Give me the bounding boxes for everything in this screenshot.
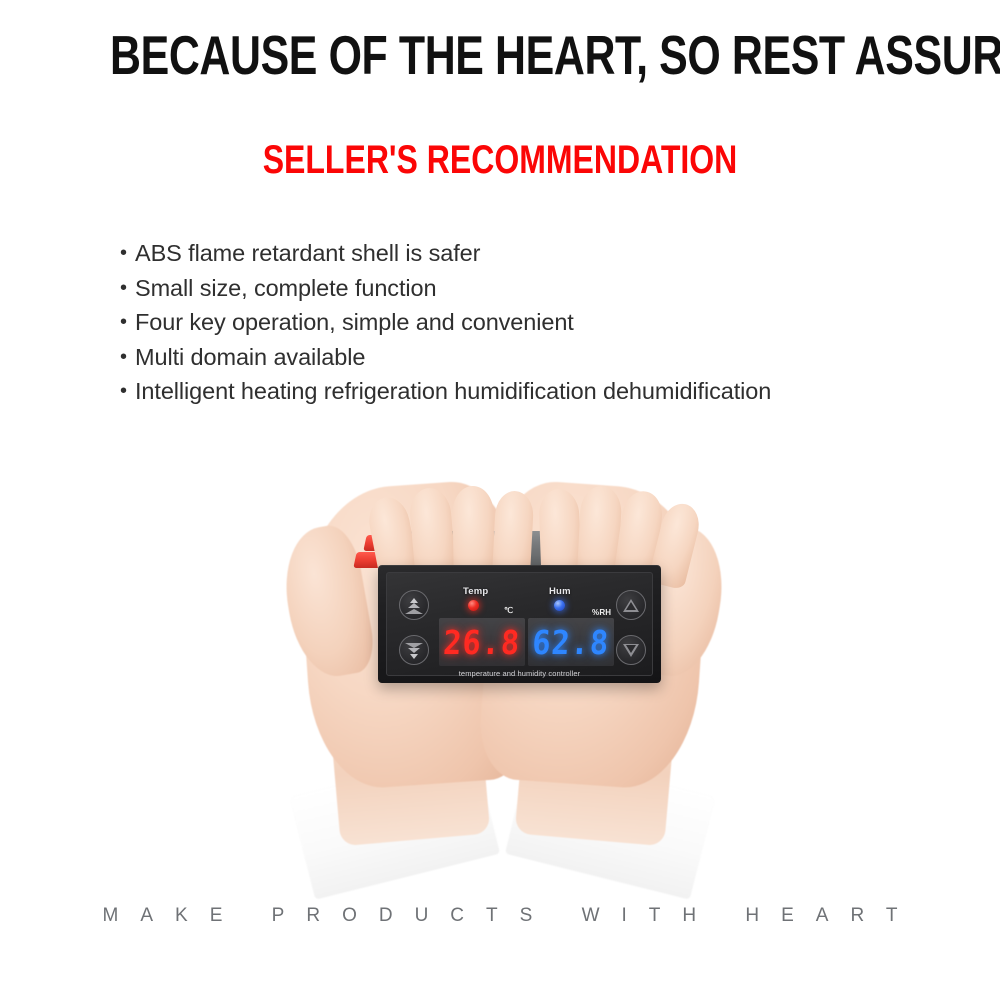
- temp-unit-label: ℃: [504, 606, 513, 615]
- triangle-down-icon: [623, 644, 639, 657]
- device-caption: temperature and humidity controller: [387, 669, 652, 678]
- list-item: • ABS flame retardant shell is safer: [120, 236, 960, 271]
- list-item: • Intelligent heating refrigeration humi…: [120, 374, 960, 409]
- triangle-stack-up-icon: [405, 598, 423, 613]
- temp-label: Temp: [463, 586, 488, 597]
- temp-indicator-led: [468, 600, 479, 611]
- hum-indicator-led: [554, 600, 565, 611]
- device-bezel: Temp Hum ℃ %RH 26.8 62.8 temperature and…: [378, 565, 661, 683]
- hum-label: Hum: [549, 586, 571, 597]
- feature-text: ABS flame retardant shell is safer: [135, 236, 960, 271]
- triangle-stack-down-icon: [405, 643, 423, 658]
- footer-tagline: MAKE PRODUCTS WITH HEART: [0, 905, 1000, 927]
- set-up-button[interactable]: [399, 590, 429, 620]
- hum-value: 62.8: [532, 626, 611, 659]
- bullet-icon: •: [120, 305, 135, 340]
- page-subheadline: SELLER'S RECOMMENDATION: [100, 137, 900, 183]
- hum-unit-label: %RH: [592, 608, 611, 617]
- feature-text: Small size, complete function: [135, 271, 960, 306]
- hum-display: 62.8: [528, 618, 614, 666]
- feature-list: • ABS flame retardant shell is safer • S…: [120, 236, 960, 409]
- page-headline: BECAUSE OF THE HEART, SO REST ASSURED: [110, 24, 890, 86]
- bullet-icon: •: [120, 340, 135, 375]
- decrease-button[interactable]: [616, 635, 646, 665]
- feature-text: Four key operation, simple and convenien…: [135, 305, 960, 340]
- list-item: • Multi domain available: [120, 340, 960, 375]
- bullet-icon: •: [120, 374, 135, 409]
- product-photo: Temp Hum ℃ %RH 26.8 62.8 temperature and…: [0, 455, 1000, 875]
- controller-device: Temp Hum ℃ %RH 26.8 62.8 temperature and…: [0, 455, 1000, 875]
- triangle-up-icon: [623, 599, 639, 612]
- list-item: • Small size, complete function: [120, 271, 960, 306]
- bullet-icon: •: [120, 236, 135, 271]
- bullet-icon: •: [120, 271, 135, 306]
- temp-value: 26.8: [443, 626, 522, 659]
- set-down-button[interactable]: [399, 635, 429, 665]
- increase-button[interactable]: [616, 590, 646, 620]
- temp-display: 26.8: [439, 618, 525, 666]
- feature-text: Intelligent heating refrigeration humidi…: [135, 374, 960, 409]
- list-item: • Four key operation, simple and conveni…: [120, 305, 960, 340]
- feature-text: Multi domain available: [135, 340, 960, 375]
- device-front-panel: Temp Hum ℃ %RH 26.8 62.8 temperature and…: [386, 572, 653, 676]
